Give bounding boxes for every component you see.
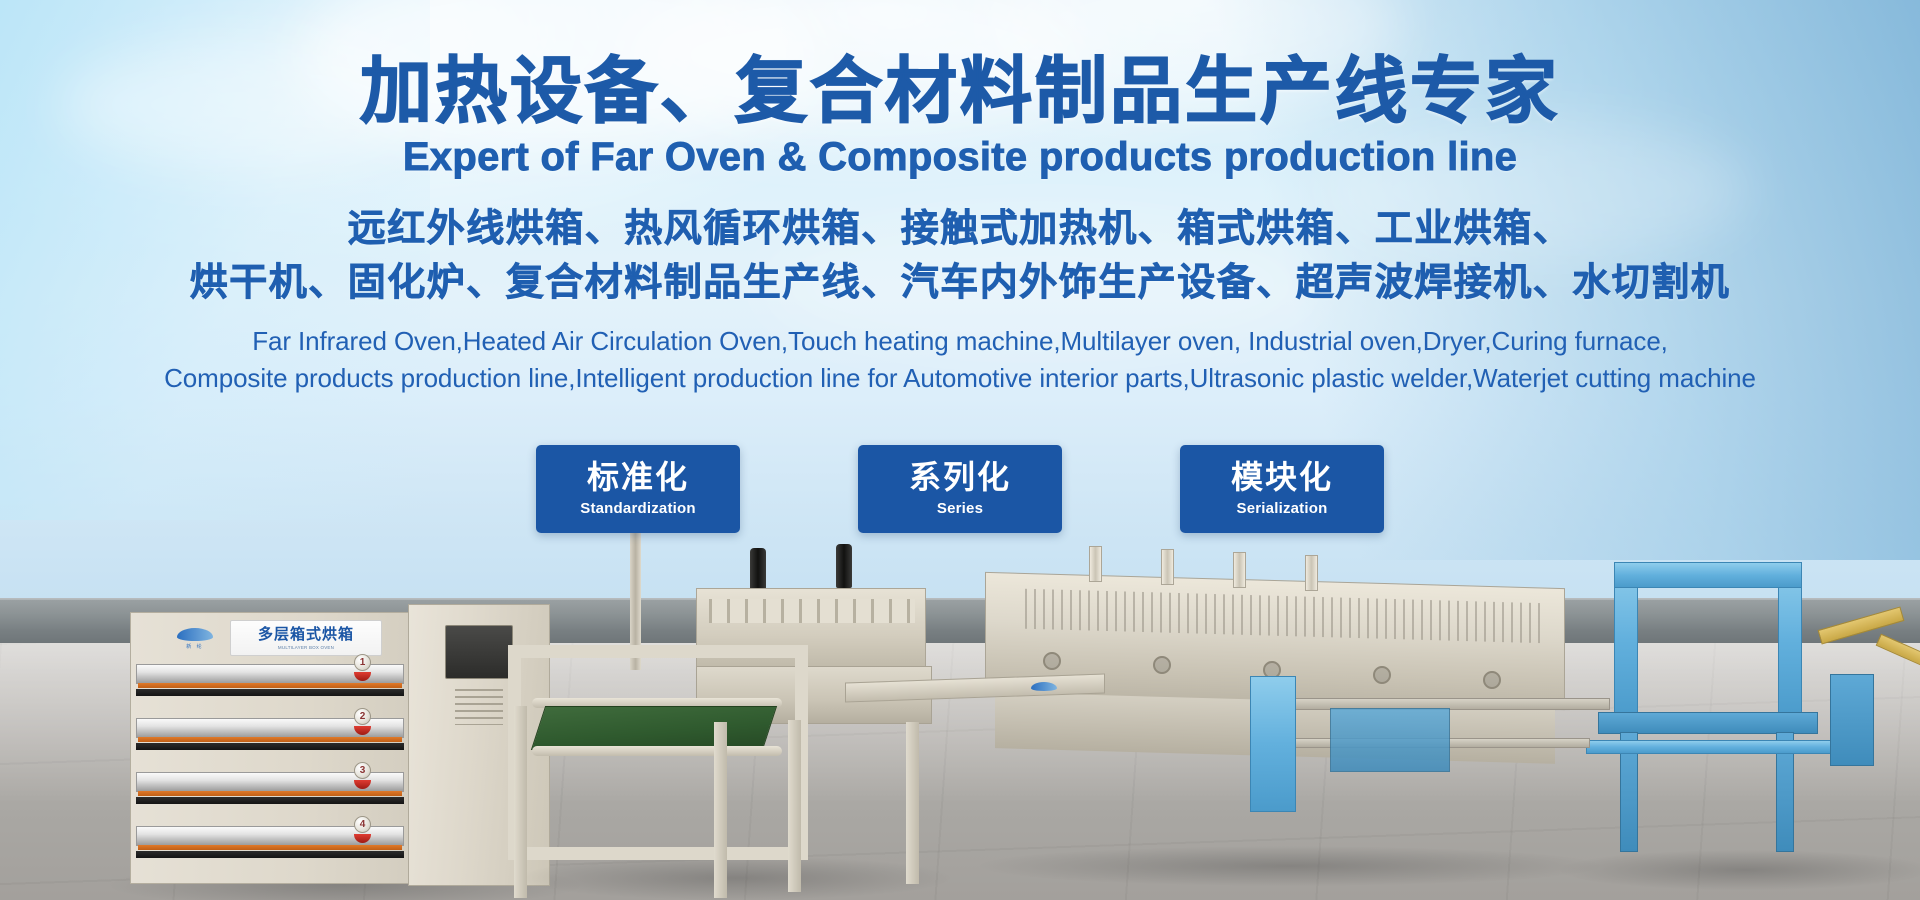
product-list-en-line1: Far Infrared Oven,Heated Air Circulation…: [0, 323, 1920, 360]
oven-tray-strip: [138, 791, 402, 796]
badge-title-cn: 模块化: [1231, 461, 1333, 493]
oven-tray-gap: [136, 689, 404, 696]
frame-leg: [714, 722, 727, 898]
frame-leg: [906, 722, 919, 884]
exhaust-stack: [1161, 549, 1174, 585]
badge-title-en: Series: [937, 500, 983, 517]
oven-tray-strip: [138, 737, 402, 742]
loader-cart: [1250, 676, 1296, 812]
loader-rack: [1330, 708, 1450, 772]
banner-text-block: 加热设备、复合材料制品生产线专家 Expert of Far Oven & Co…: [0, 56, 1920, 397]
status-indicator-1: 1: [354, 654, 371, 671]
cabinet-vents-icon: [455, 689, 503, 725]
inspection-port: [1373, 666, 1391, 684]
exhaust-stack: [1089, 546, 1102, 582]
badge-title-cn: 标准化: [587, 461, 689, 493]
product-list-en-line2: Composite products production line,Intel…: [0, 360, 1920, 397]
feature-badge-group: 标准化 Standardization 系列化 Series 模块化 Seria…: [0, 445, 1920, 533]
inspection-port: [1043, 652, 1061, 670]
oven-tray-gap: [136, 797, 404, 804]
press-cylinder: [750, 548, 766, 592]
oven-tray-gap: [136, 851, 404, 858]
badge-title-en: Standardization: [580, 500, 696, 517]
machine-multilayer-oven: 新 纶 多层箱式烘箱 MULTILAYER BOX OVEN 1: [130, 612, 550, 900]
robot-base: [1830, 674, 1874, 766]
cell-base: [1598, 712, 1818, 734]
conveyor-belt: [531, 706, 777, 750]
brand-logo: 新 纶: [166, 626, 224, 652]
oven-tray-gap: [136, 743, 404, 750]
oven-tray-strip: [138, 683, 402, 688]
page-title-en: Expert of Far Oven & Composite products …: [0, 135, 1920, 179]
oven-tray-strip: [138, 845, 402, 850]
badge-serialization[interactable]: 模块化 Serialization: [1180, 445, 1384, 533]
page-title-cn: 加热设备、复合材料制品生产线专家: [0, 56, 1920, 129]
badge-standardization[interactable]: 标准化 Standardization: [536, 445, 740, 533]
press-cylinder: [836, 544, 852, 588]
exhaust-stack: [1305, 555, 1318, 591]
status-indicator-4: 4: [354, 816, 371, 833]
badge-title-cn: 系列化: [909, 461, 1011, 493]
frame-leg: [514, 706, 527, 898]
logo-text: 新 纶: [186, 643, 203, 650]
logo-swoosh-icon: [177, 628, 213, 641]
machine-nameplate: 多层箱式烘箱 MULTILAYER BOX OVEN: [230, 620, 382, 656]
machine-waterjet-cell: [1580, 540, 1920, 900]
status-indicator-2: 2: [354, 708, 371, 725]
nameplate-subtitle: MULTILAYER BOX OVEN: [278, 645, 334, 650]
brand-logo: [1021, 678, 1067, 694]
platen-heater-grid: [709, 599, 915, 623]
nameplate-title: 多层箱式烘箱: [258, 627, 354, 642]
product-list-cn-line2: 烘干机、固化炉、复合材料制品生产线、汽车内外饰生产设备、超声波焊接机、水切割机: [0, 257, 1920, 311]
promo-banner: 新 纶 多层箱式烘箱 MULTILAYER BOX OVEN 1: [0, 0, 1920, 900]
product-list-cn-line1: 远红外线烘箱、热风循环烘箱、接触式加热机、箱式烘箱、工业烘箱、: [0, 203, 1920, 257]
exhaust-stack: [1233, 552, 1246, 588]
badge-series[interactable]: 系列化 Series: [858, 445, 1062, 533]
inspection-port: [1483, 671, 1501, 689]
cell-gantry-top: [1614, 562, 1802, 588]
cell-table: [1586, 740, 1836, 754]
status-indicator-3: 3: [354, 762, 371, 779]
logo-swoosh-icon: [1031, 682, 1057, 691]
frame-leg: [788, 720, 801, 892]
inspection-port: [1153, 656, 1171, 674]
conveyor-roller: [532, 746, 782, 756]
badge-title-en: Serialization: [1237, 500, 1328, 517]
robot-arm-lower: [1876, 634, 1920, 668]
